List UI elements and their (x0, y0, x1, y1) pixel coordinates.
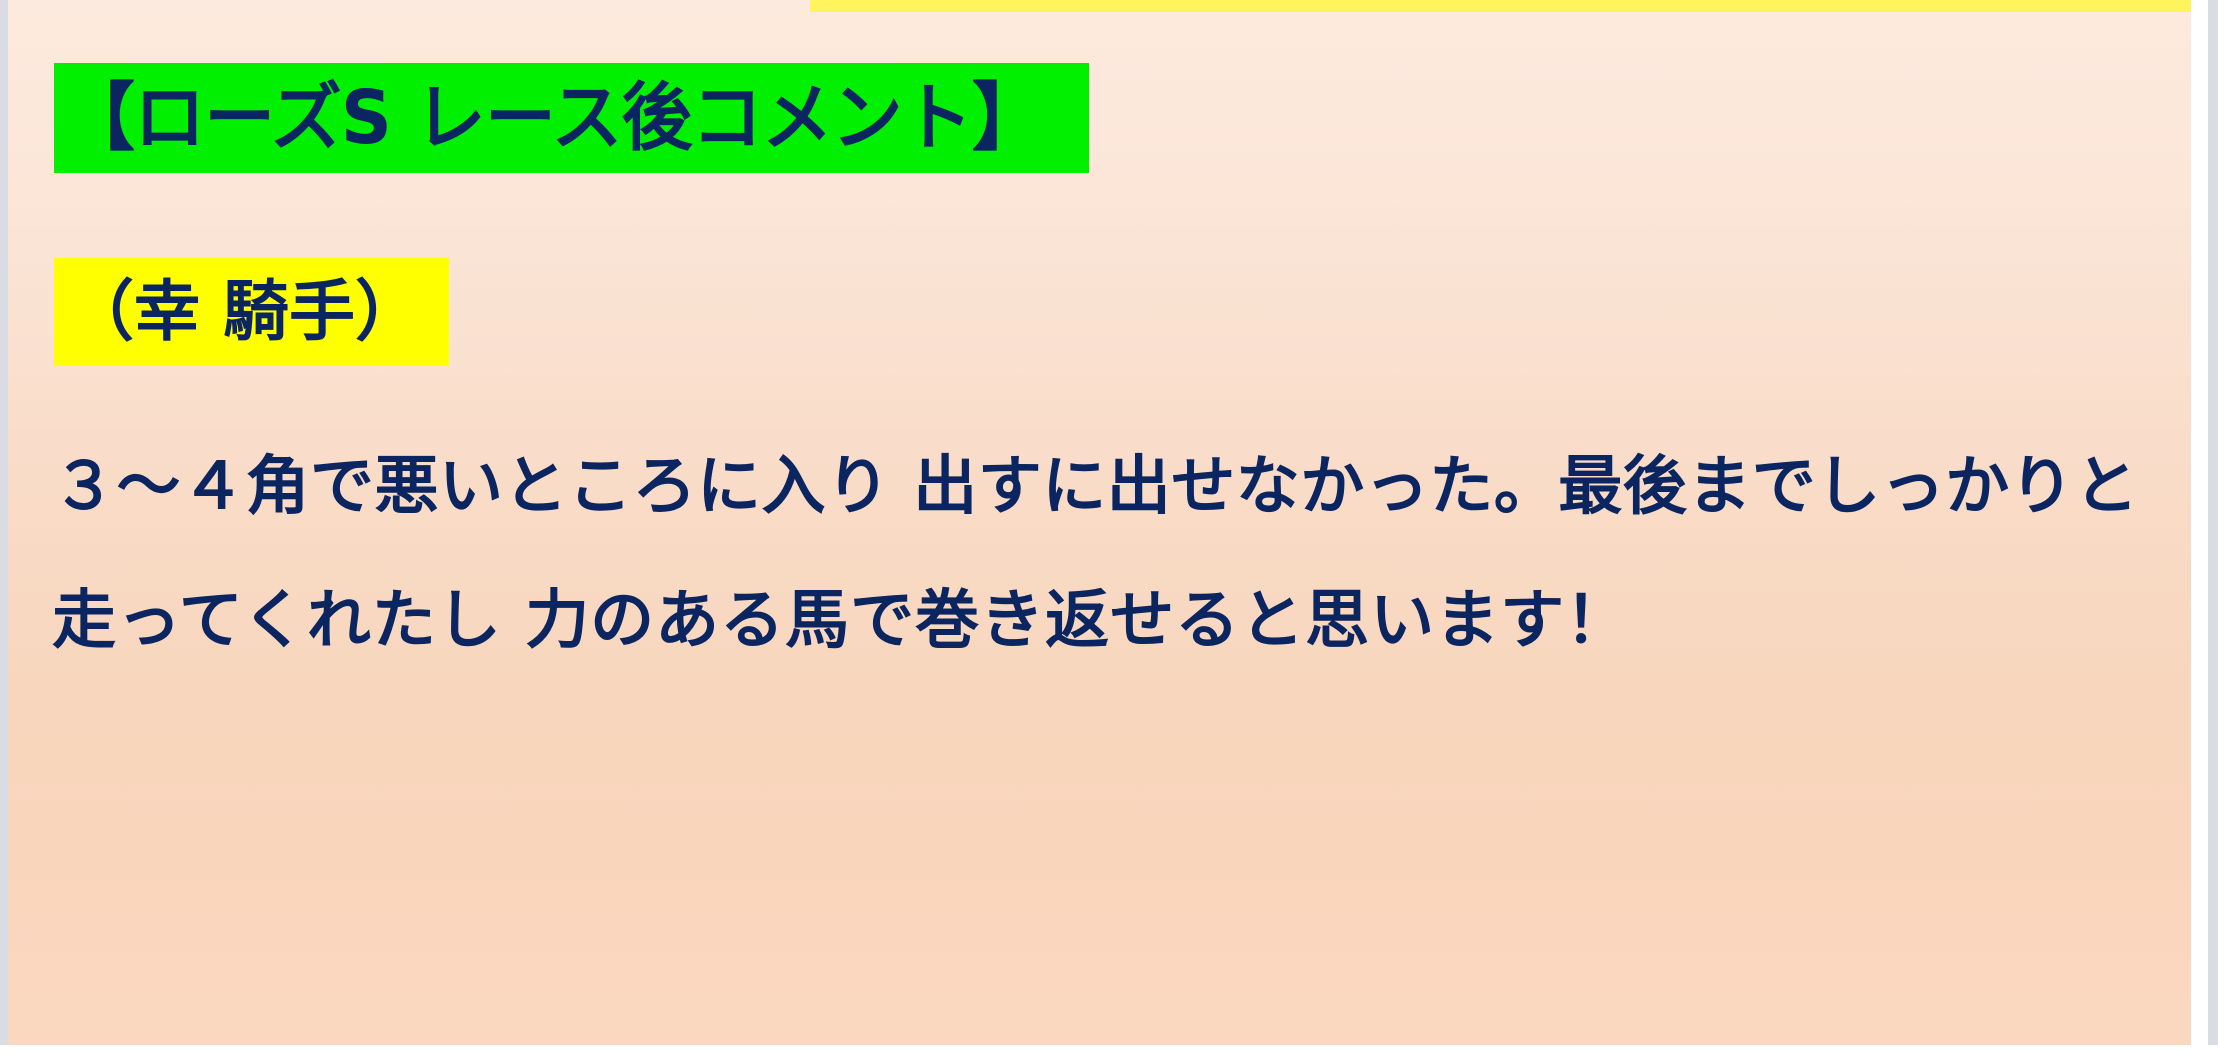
title-band: 【ローズS レース後コメント】 (54, 63, 1089, 173)
top-yellow-strip (810, 0, 2191, 12)
speaker-label: （幸 騎手） (68, 279, 421, 345)
comment-block: ３～４角で悪いところに入り 出すに出せなかった。最後までしっかりと 走ってくれた… (52, 420, 2162, 688)
right-edge-rule (2208, 0, 2218, 1054)
comment-line-1: ３～４角で悪いところに入り 出すに出せなかった。最後までしっかりと (52, 420, 2162, 554)
page-title: 【ローズS レース後コメント】 (64, 81, 1042, 155)
comment-line-2: 走ってくれたし 力のある馬で巻き返せると思います！ (52, 554, 2162, 688)
slide-canvas: 【ローズS レース後コメント】 （幸 騎手） ３～４角で悪いところに入り 出すに… (0, 0, 2218, 1054)
right-white-gutter (2191, 0, 2208, 1054)
bottom-white-gutter (0, 1045, 2218, 1054)
speaker-band: （幸 騎手） (54, 258, 449, 366)
left-edge-rule (0, 0, 8, 1054)
slide-background: 【ローズS レース後コメント】 （幸 騎手） ３～４角で悪いところに入り 出すに… (8, 0, 2191, 1046)
